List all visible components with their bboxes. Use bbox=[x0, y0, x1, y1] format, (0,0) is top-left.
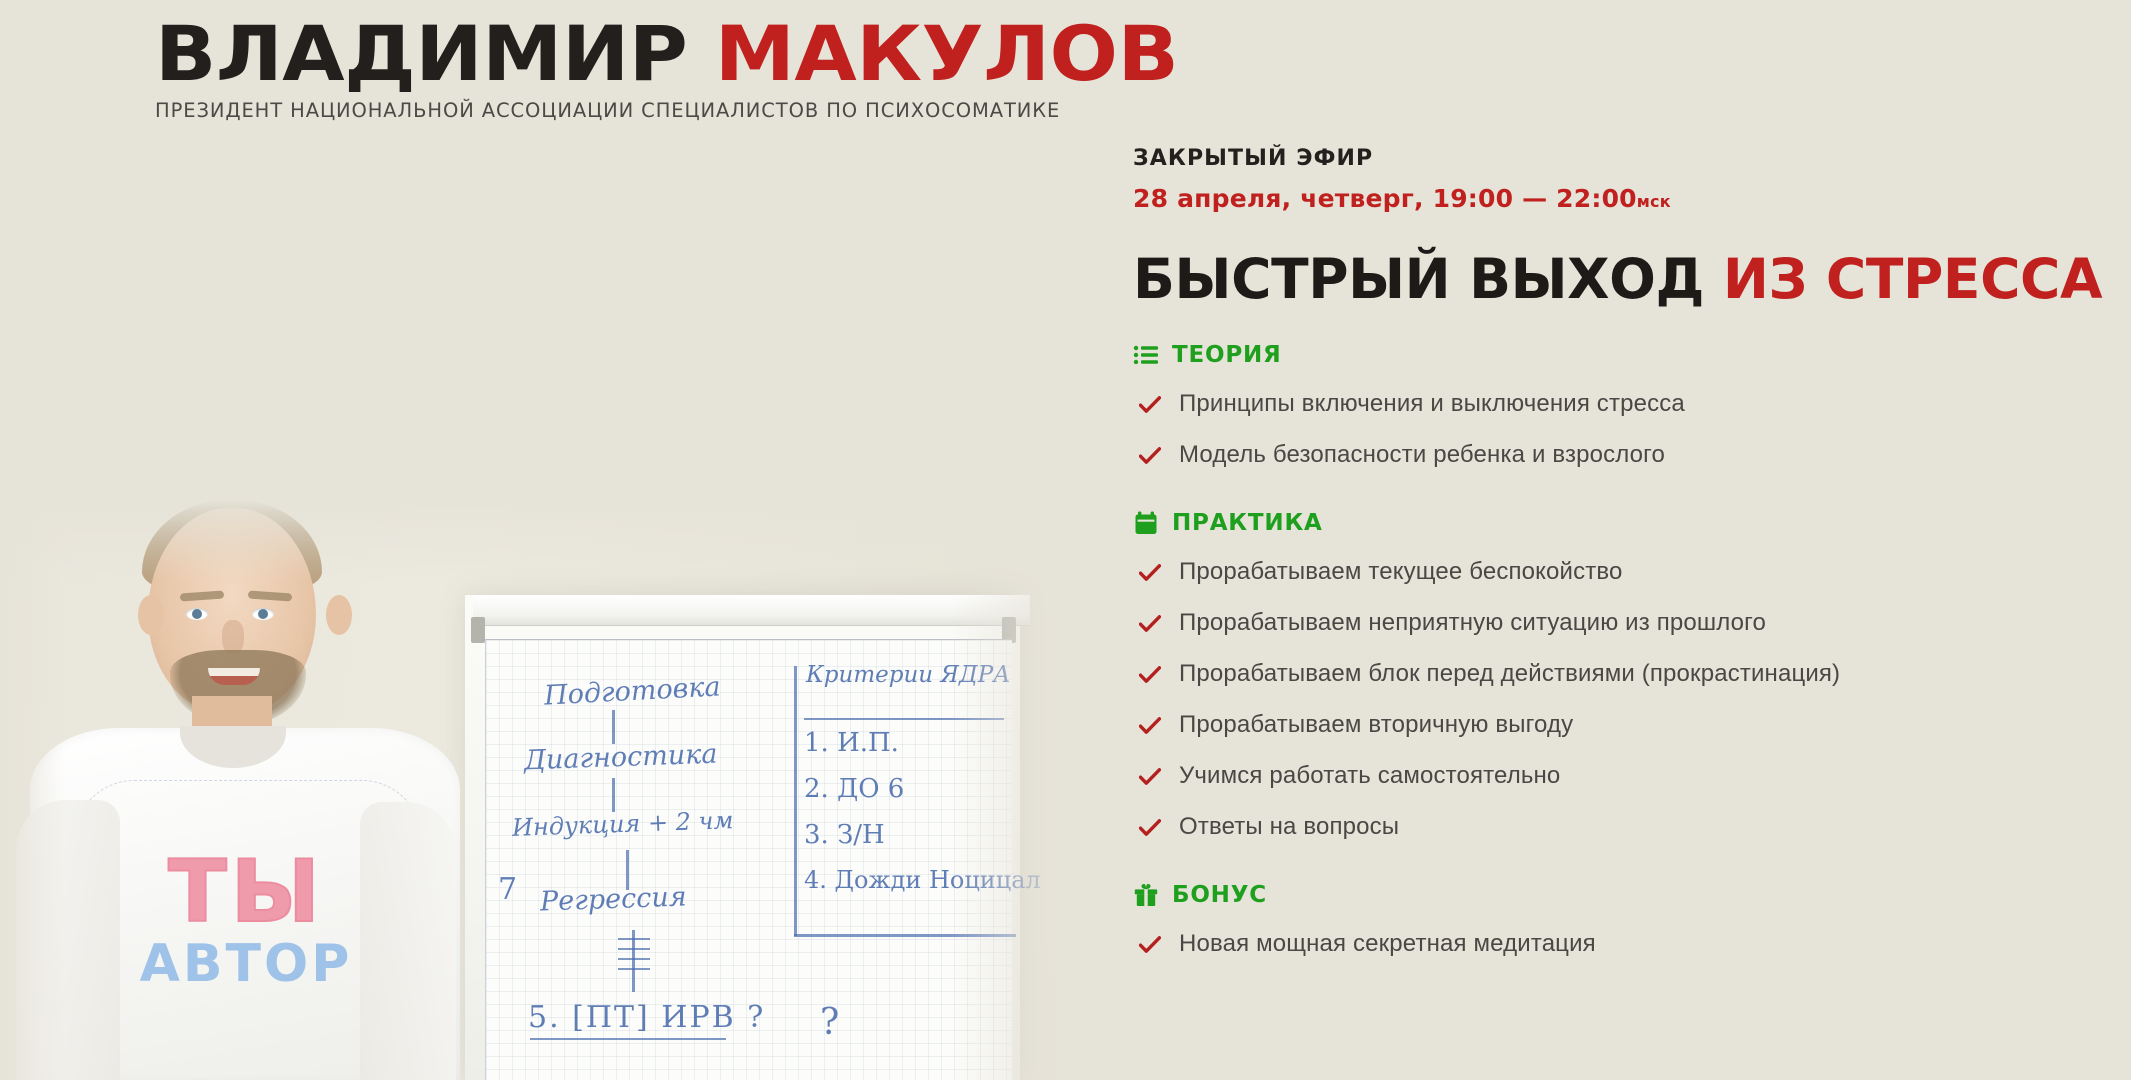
check-icon bbox=[1139, 819, 1161, 837]
list-item-label: Принципы включения и выключения стресса bbox=[1179, 390, 1685, 418]
section-bonus-items: Новая мощная секретная медитация bbox=[1133, 918, 2093, 969]
flipchart-mark-7: 7 bbox=[498, 872, 517, 907]
brand-subtitle: ПРЕЗИДЕНТ НАЦИОНАЛЬНОЙ АССОЦИАЦИИ СПЕЦИА… bbox=[155, 99, 1080, 122]
presenter-photo: Подготовка Диагностика Индукция + 2 чм Р… bbox=[0, 500, 1080, 1080]
calendar-icon bbox=[1133, 510, 1159, 536]
flipchart-sheet: Подготовка Диагностика Индукция + 2 чм Р… bbox=[485, 639, 1012, 1080]
page-title: БЫСТРЫЙ ВЫХОД ИЗ СТРЕССА bbox=[1133, 251, 2093, 308]
flipchart-right-item-4: 4. Дожди Ноцицал bbox=[804, 866, 1041, 894]
flipchart-right-item-3: 3. З/Н bbox=[804, 820, 885, 850]
flipchart-arrow-1 bbox=[612, 710, 615, 744]
list-item: Прорабатываем текущее беспокойство bbox=[1133, 546, 2093, 597]
check-icon bbox=[1139, 768, 1161, 786]
list-icon bbox=[1133, 342, 1159, 368]
section-bonus-title: БОНУС bbox=[1172, 882, 1267, 908]
presenter-figure: ТЫ АВТОР bbox=[30, 500, 460, 1080]
flipchart-right-item-1: 1. И.П. bbox=[804, 728, 899, 758]
flipchart-spine-tick-2 bbox=[618, 948, 650, 950]
section-practice: ПРАКТИКА Прорабатываем текущее беспокойс… bbox=[1133, 510, 2093, 852]
brand-last-name: МАКУЛОВ bbox=[715, 9, 1179, 98]
tshirt-print-top: ТЫ bbox=[96, 852, 396, 934]
headline-red-part: ИЗ СТРЕССА bbox=[1723, 247, 2102, 311]
brand-first-name: ВЛАДИМИР bbox=[155, 9, 687, 98]
check-icon bbox=[1139, 666, 1161, 684]
flipchart-paper-roll bbox=[473, 595, 1030, 626]
flipchart-spine-tick-4 bbox=[618, 968, 650, 970]
list-item: Прорабатываем неприятную ситуацию из про… bbox=[1133, 597, 2093, 648]
check-icon bbox=[1139, 936, 1161, 954]
flipchart-spine-tick-3 bbox=[618, 958, 650, 960]
list-item: Учимся работать самостоятельно bbox=[1133, 750, 2093, 801]
flipchart-title-underline bbox=[804, 718, 1004, 720]
flipchart-box-bottom-border bbox=[794, 934, 1016, 937]
flipchart-right-title: Критерии ЯДРА bbox=[806, 662, 1011, 688]
nose bbox=[222, 620, 244, 654]
event-datetime: 28 апреля, четверг, 19:00 — 22:00мск bbox=[1133, 184, 2093, 213]
ear-left bbox=[138, 595, 164, 635]
flipchart-underline bbox=[530, 1038, 726, 1040]
list-item: Новая мощная секретная медитация bbox=[1133, 918, 2093, 969]
list-item: Прорабатываем блок перед действиями (про… bbox=[1133, 648, 2093, 699]
tshirt-print: ТЫ АВТОР bbox=[96, 852, 396, 990]
flipchart-note-4: Регрессия bbox=[540, 881, 688, 917]
flipchart-clip-left bbox=[471, 617, 485, 643]
teeth bbox=[208, 668, 260, 676]
headline-dark-part: БЫСТРЫЙ ВЫХОД bbox=[1133, 247, 1704, 311]
section-practice-header: ПРАКТИКА bbox=[1133, 510, 2093, 536]
event-timezone: мск bbox=[1637, 192, 1671, 211]
check-icon bbox=[1139, 564, 1161, 582]
flipchart-arrow-2 bbox=[612, 778, 615, 812]
check-icon bbox=[1139, 615, 1161, 633]
section-theory-header: ТЕОРИЯ bbox=[1133, 342, 2093, 368]
check-icon bbox=[1139, 717, 1161, 735]
list-item: Модель безопасности ребенка и взрослого bbox=[1133, 429, 2093, 480]
list-item: Прорабатываем вторичную выгоду bbox=[1133, 699, 2093, 750]
pupil-right bbox=[258, 609, 268, 619]
check-icon bbox=[1139, 396, 1161, 414]
flipchart: Подготовка Диагностика Индукция + 2 чм Р… bbox=[465, 595, 1020, 1080]
flipchart-note-1: Подготовка bbox=[543, 671, 721, 711]
list-item-label: Новая мощная секретная медитация bbox=[1179, 930, 1596, 958]
list-item-label: Прорабатываем вторичную выгоду bbox=[1179, 711, 1573, 739]
flipchart-question-mark: ? bbox=[820, 1002, 839, 1043]
poster-page: ВЛАДИМИР МАКУЛОВ ПРЕЗИДЕНТ НАЦИОНАЛЬНОЙ … bbox=[0, 0, 2131, 1080]
section-bonus: БОНУС Новая мощная секретная медитация bbox=[1133, 882, 2093, 969]
list-item-label: Прорабатываем блок перед действиями (про… bbox=[1179, 660, 1840, 688]
pupil-left bbox=[192, 609, 202, 619]
section-theory: ТЕОРИЯ Принципы включения и выключения с… bbox=[1133, 342, 2093, 480]
list-item-label: Учимся работать самостоятельно bbox=[1179, 762, 1560, 790]
flipchart-note-2: Диагностика bbox=[524, 739, 718, 777]
flipchart-right-item-2: 2. ДО 6 bbox=[804, 774, 904, 804]
flipchart-bottom-note: 5. [ПТ] ИРВ ? bbox=[528, 1000, 765, 1035]
list-item-label: Ответы на вопросы bbox=[1179, 813, 1399, 841]
event-date-text: 28 апреля, четверг, 19:00 — 22:00 bbox=[1133, 184, 1637, 213]
list-item: Ответы на вопросы bbox=[1133, 801, 2093, 852]
event-details-column: ЗАКРЫТЫЙ ЭФИР 28 апреля, четверг, 19:00 … bbox=[1133, 146, 2093, 969]
list-item-label: Прорабатываем неприятную ситуацию из про… bbox=[1179, 609, 1766, 637]
check-icon bbox=[1139, 447, 1161, 465]
event-kicker: ЗАКРЫТЫЙ ЭФИР bbox=[1133, 146, 2093, 171]
ear-right bbox=[326, 595, 352, 635]
section-theory-title: ТЕОРИЯ bbox=[1172, 342, 1282, 368]
list-item: Принципы включения и выключения стресса bbox=[1133, 378, 2093, 429]
flipchart-note-3: Индукция + 2 чм bbox=[512, 806, 734, 842]
tshirt-print-bottom: АВТОР bbox=[96, 938, 396, 990]
section-theory-items: Принципы включения и выключения стресса … bbox=[1133, 378, 2093, 480]
gift-icon bbox=[1133, 882, 1159, 908]
flipchart-box-left-border bbox=[794, 666, 797, 936]
brand-block: ВЛАДИМИР МАКУЛОВ ПРЕЗИДЕНТ НАЦИОНАЛЬНОЙ … bbox=[155, 18, 1080, 122]
section-practice-title: ПРАКТИКА bbox=[1172, 510, 1323, 536]
section-bonus-header: БОНУС bbox=[1133, 882, 2093, 908]
list-item-label: Прорабатываем текущее беспокойство bbox=[1179, 558, 1623, 586]
section-practice-items: Прорабатываем текущее беспокойство Прора… bbox=[1133, 546, 2093, 852]
list-item-label: Модель безопасности ребенка и взрослого bbox=[1179, 441, 1665, 469]
brand-name: ВЛАДИМИР МАКУЛОВ bbox=[155, 18, 1136, 90]
flipchart-spine-tick-1 bbox=[618, 938, 650, 940]
